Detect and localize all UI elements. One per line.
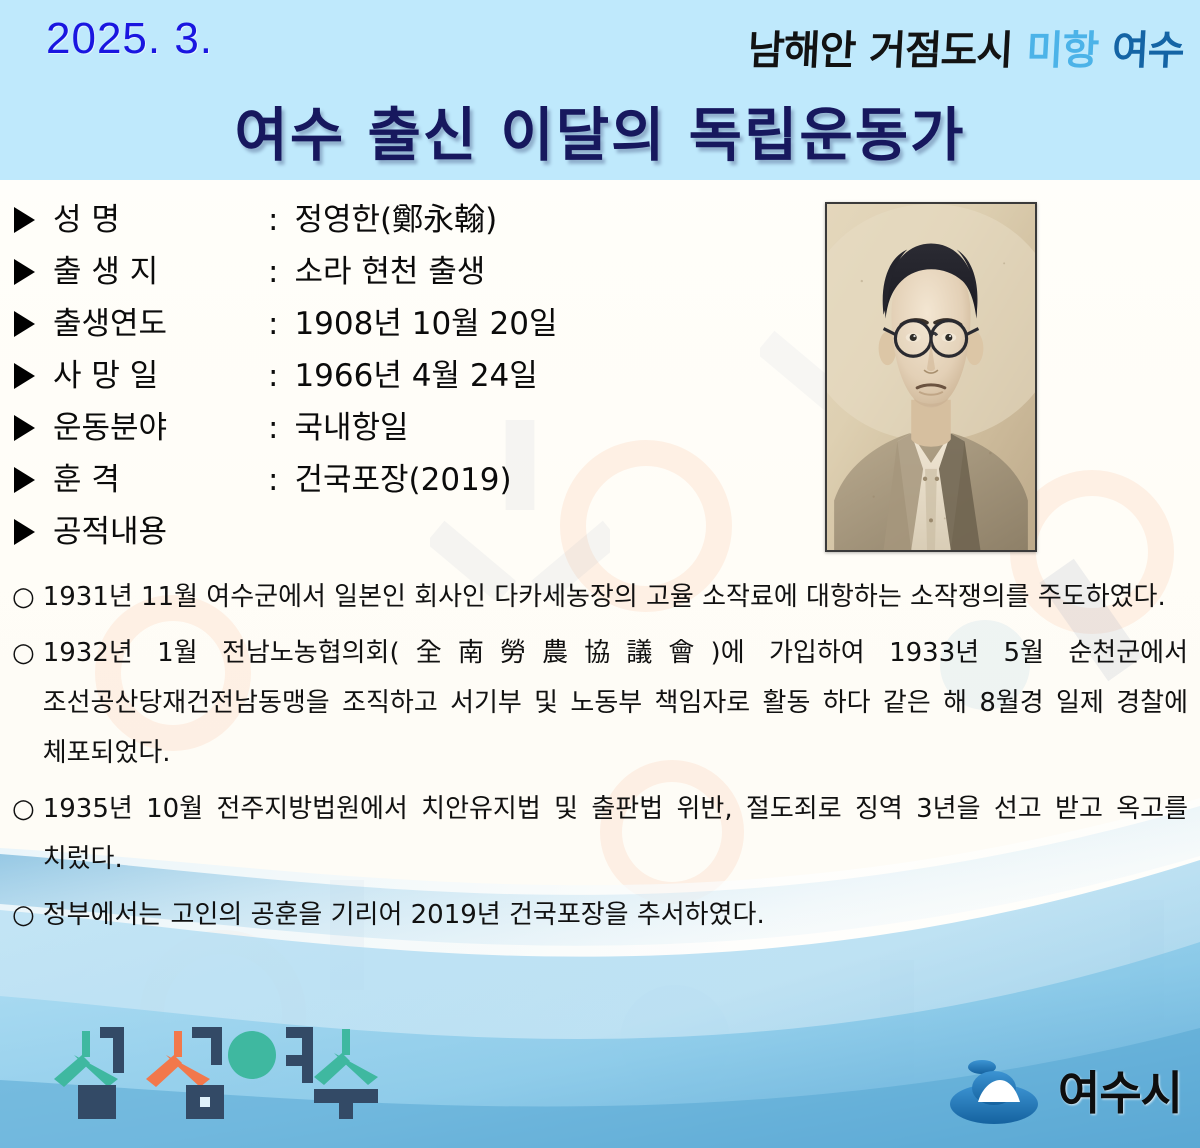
circle-bullet-icon: ○ [12, 572, 35, 622]
city-brand-logo: 남해안 거점도시 미항 여수 [747, 18, 1186, 76]
profile-value: 소라 현천 출생 [294, 246, 485, 291]
profile-row-name: 성 명 : 정영한(鄭永翰) [14, 194, 814, 246]
yeosu-city-logo: 여수시 [948, 1054, 1182, 1126]
profile-label: 출 생 지 [53, 246, 268, 291]
profile-colon: : [268, 462, 278, 498]
triangle-bullet-icon [14, 467, 35, 493]
seomseom-yeosu-logo [48, 1015, 378, 1130]
achievement-item: ○ 1935년 10월 전주지방법원에서 치안유지법 및 출판법 위반, 절도죄… [12, 784, 1188, 884]
profile-info-list: 성 명 : 정영한(鄭永翰) 출 생 지 : 소라 현천 출생 출생연도 : 1… [14, 194, 814, 558]
achievement-text: 1935년 10월 전주지방법원에서 치안유지법 및 출판법 위반, 절도죄로 … [43, 784, 1188, 884]
profile-label: 성 명 [53, 194, 268, 239]
portrait-photo [825, 202, 1037, 552]
profile-label: 공적내용 [53, 506, 167, 551]
profile-colon: : [268, 306, 278, 342]
profile-value: 1966년 4월 24일 [294, 350, 537, 395]
triangle-bullet-icon [14, 363, 35, 389]
profile-value: 건국포장(2019) [294, 454, 511, 499]
city-label: 여수시 [1058, 1057, 1182, 1123]
profile-row-award: 훈 격 : 건국포장(2019) [14, 454, 814, 506]
triangle-bullet-icon [14, 519, 35, 545]
profile-label: 훈 격 [53, 454, 268, 499]
brand-segment-geojeomdosi: 거점도시 [868, 18, 1014, 76]
profile-label: 출생연도 [53, 298, 268, 343]
achievement-item: ○ 1932년 1월 전남노농협의회(全南勞農協議會)에 가입하여 1933년 … [12, 628, 1188, 778]
circle-bullet-icon: ○ [12, 890, 35, 940]
achievement-text: 1931년 11월 여수군에서 일본인 회사인 다카세농장의 고율 소작료에 대… [43, 572, 1188, 622]
profile-value: 정영한(鄭永翰) [294, 194, 497, 239]
achievement-item: ○ 1931년 11월 여수군에서 일본인 회사인 다카세농장의 고율 소작료에… [12, 572, 1188, 622]
brand-segment-namhaean: 남해안 [747, 18, 857, 76]
profile-row-deathdate: 사 망 일 : 1966년 4월 24일 [14, 350, 814, 402]
triangle-bullet-icon [14, 311, 35, 337]
issue-date: 2025. 3. [46, 14, 213, 64]
achievement-text: 정부에서는 고인의 공훈을 기리어 2019년 건국포장을 추서하였다. [43, 890, 1188, 940]
circle-bullet-icon: ○ [12, 784, 35, 834]
profile-row-achievements-heading: 공적내용 [14, 506, 814, 558]
achievement-text: 1932년 1월 전남노농협의회(全南勞農協議會)에 가입하여 1933년 5월… [43, 628, 1188, 778]
brand-segment-mihang: 미항 [1025, 18, 1100, 76]
page-title: 여수 출신 이달의 독립운동가 [0, 88, 1200, 172]
profile-colon: : [268, 358, 278, 394]
profile-row-birthdate: 출생연도 : 1908년 10월 20일 [14, 298, 814, 350]
triangle-bullet-icon [14, 207, 35, 233]
poster-root: 2025. 3. 남해안 거점도시 미항 여수 여수 출신 이달의 독립운동가 … [0, 0, 1200, 1148]
achievement-item: ○ 정부에서는 고인의 공훈을 기리어 2019년 건국포장을 추서하였다. [12, 890, 1188, 940]
triangle-bullet-icon [14, 259, 35, 285]
profile-colon: : [268, 410, 278, 446]
brand-segment-yeosu: 여수 [1111, 18, 1186, 76]
profile-row-field: 운동분야 : 국내항일 [14, 402, 814, 454]
profile-colon: : [268, 202, 278, 238]
circle-bullet-icon: ○ [12, 628, 35, 678]
yeosu-island-icon [948, 1054, 1044, 1126]
profile-label: 운동분야 [53, 402, 268, 447]
profile-value: 1908년 10월 20일 [294, 298, 557, 343]
profile-row-birthplace: 출 생 지 : 소라 현천 출생 [14, 246, 814, 298]
profile-value: 국내항일 [294, 402, 408, 447]
poster-header: 2025. 3. 남해안 거점도시 미항 여수 여수 출신 이달의 독립운동가 [0, 0, 1200, 180]
profile-label: 사 망 일 [53, 350, 268, 395]
profile-colon: : [268, 254, 278, 290]
achievement-list: ○ 1931년 11월 여수군에서 일본인 회사인 다카세농장의 고율 소작료에… [12, 572, 1188, 946]
triangle-bullet-icon [14, 415, 35, 441]
